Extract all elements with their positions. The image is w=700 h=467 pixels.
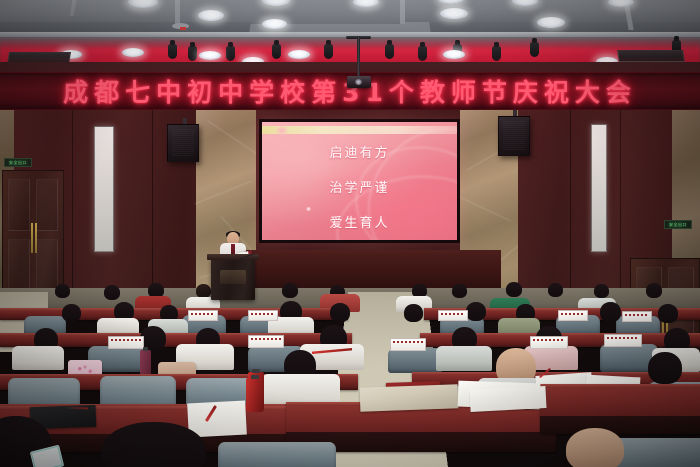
audience-head [594,284,609,298]
audience-head [452,284,467,298]
audience-head [466,302,486,321]
wall-speaker-right [498,116,530,156]
slide-line-2: 治学严谨 [329,177,389,196]
spotlight [385,44,394,59]
name-placard [530,336,568,349]
downlight [443,50,465,59]
name-placard [248,335,284,348]
air-vent [617,50,685,62]
projection-screen-frame: 启迪有方 治学严谨 爱生育人 [259,119,460,243]
ceiling-projector [347,76,371,88]
spotlight [188,46,197,61]
slide-line-3: 爱生育人 [329,212,389,231]
paper-sheet [469,386,546,412]
spotlight [492,46,501,61]
wall-light-strip-left [94,126,114,252]
name-placard [604,334,642,347]
spotlight [530,42,539,57]
name-placard [390,338,426,351]
audience-head-foreground [102,422,206,467]
water-bottle [246,378,264,412]
slide-header-bar [262,126,457,134]
exit-sign-left-label: 安全出口 [9,160,27,166]
audience-head [196,284,211,298]
exit-sign-left-icon: 安全出口 [4,158,32,167]
name-placard [108,336,144,349]
downlight [288,50,310,59]
audience-head [55,284,70,298]
downlight [262,19,287,29]
downlight [122,48,144,57]
exit-sign-right-label: 安全出口 [669,222,687,228]
spotlight [324,44,333,59]
projector-lens-icon [355,79,362,85]
downlight [199,51,221,60]
audience-head-foreground [566,428,624,467]
slide-line-1: 启迪有方 [329,142,389,161]
audience-head [330,303,350,322]
audience-head [62,304,81,322]
audience-chair-foreground [218,442,336,467]
name-placard [248,310,278,321]
slide-header-mark-icon [276,126,288,135]
lectern [211,258,255,300]
audience-head [104,285,120,300]
name-placard [622,311,652,322]
audience-head [648,352,682,384]
auditorium-scene: 安全出口 安全出口 成都七中初中学校第31个教师节庆祝大会 [0,0,700,467]
lectern-emblem [220,270,246,284]
name-placard [188,310,218,321]
audience-head [506,282,522,297]
spotlight [226,46,235,61]
projector-pole [357,36,360,78]
exit-sign-right-icon: 安全出口 [664,220,692,229]
audience-head [548,283,563,297]
audience-head [646,283,662,298]
spotlight [168,44,177,59]
name-placard [558,310,588,321]
book-stack [360,384,459,411]
slide-text-block: 启迪有方 治学严谨 爱生育人 [262,142,457,231]
spotlight [418,46,427,61]
audience-head [282,283,298,298]
spotlight [272,44,281,59]
projection-screen: 启迪有方 治学严谨 爱生育人 [262,122,457,240]
audience-desk-foreground [540,384,700,434]
downlight [198,10,224,21]
name-placard [438,310,468,321]
downlight [440,8,468,19]
table-row [0,392,700,467]
wall-speaker-left [167,124,199,162]
wall-light-strip-right [591,124,607,252]
downlight [537,17,565,28]
detector-led [180,27,186,30]
audience-head [600,302,621,322]
